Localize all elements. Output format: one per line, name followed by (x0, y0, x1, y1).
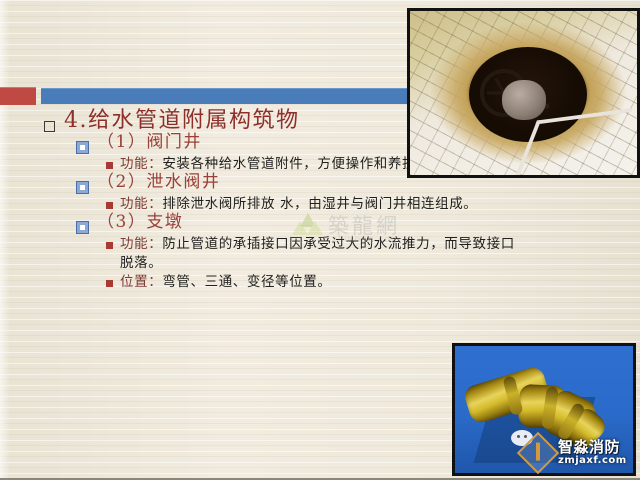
detail-lead-label: 功能： (120, 156, 162, 172)
left-edge-gradient (0, 0, 10, 480)
red-square-bullet-icon (106, 162, 113, 169)
section-detail-row: 位置：弯管、三通、变径等位置。 (106, 273, 600, 291)
detail-lead-label: 位置： (120, 274, 162, 290)
detail-body-text: 防止管道的承插接口因承受过大的水流推力，而导致接口脱落。 (120, 236, 515, 270)
section-detail-3-0: 功能：防止管道的承插接口因承受过大的水流推力，而导致接口脱落。 (120, 235, 520, 271)
red-square-bullet-icon (106, 280, 113, 287)
section-detail-row: 功能：防止管道的承插接口因承受过大的水流推力，而导致接口脱落。 (106, 235, 600, 271)
detail-body-text: 弯管、三通、变径等位置。 (162, 274, 331, 290)
section-detail-3-1: 位置：弯管、三通、变径等位置。 (120, 273, 600, 291)
detail-body-text: 排除泄水阀所排放 水，由湿井与阀门井相连组成。 (162, 196, 477, 212)
hollow-square-bullet-icon (44, 121, 55, 132)
red-square-bullet-icon (106, 242, 113, 249)
section-detail-2-0: 功能：排除泄水阀所排放 水，由湿井与阀门井相连组成。 (120, 195, 600, 213)
slide-canvas: 4.给水管道附属构筑物 （1）阀门井 功能：安装各种给水管道附件，方便操作和养护… (0, 0, 640, 480)
blue-square-bullet-icon (76, 181, 89, 194)
section-heading-row: （3）支墩 (76, 214, 600, 234)
valve-well-photo (407, 8, 640, 178)
valve-body (502, 80, 546, 120)
section-heading-3: （3）支墩 (97, 214, 600, 231)
red-square-bullet-icon (106, 202, 113, 209)
blue-square-bullet-icon (76, 141, 89, 154)
pipe-thrust-block-photo (452, 343, 636, 476)
section-detail-row: 功能：排除泄水阀所排放 水，由湿井与阀门井相连组成。 (106, 195, 600, 213)
detail-body-text: 安装各种给水管道附件，方便操作和养护。 (162, 156, 430, 172)
detail-lead-label: 功能： (120, 196, 162, 212)
header-accent-bar-red (0, 87, 36, 105)
blue-square-bullet-icon (76, 221, 89, 234)
detail-lead-label: 功能： (120, 236, 162, 252)
